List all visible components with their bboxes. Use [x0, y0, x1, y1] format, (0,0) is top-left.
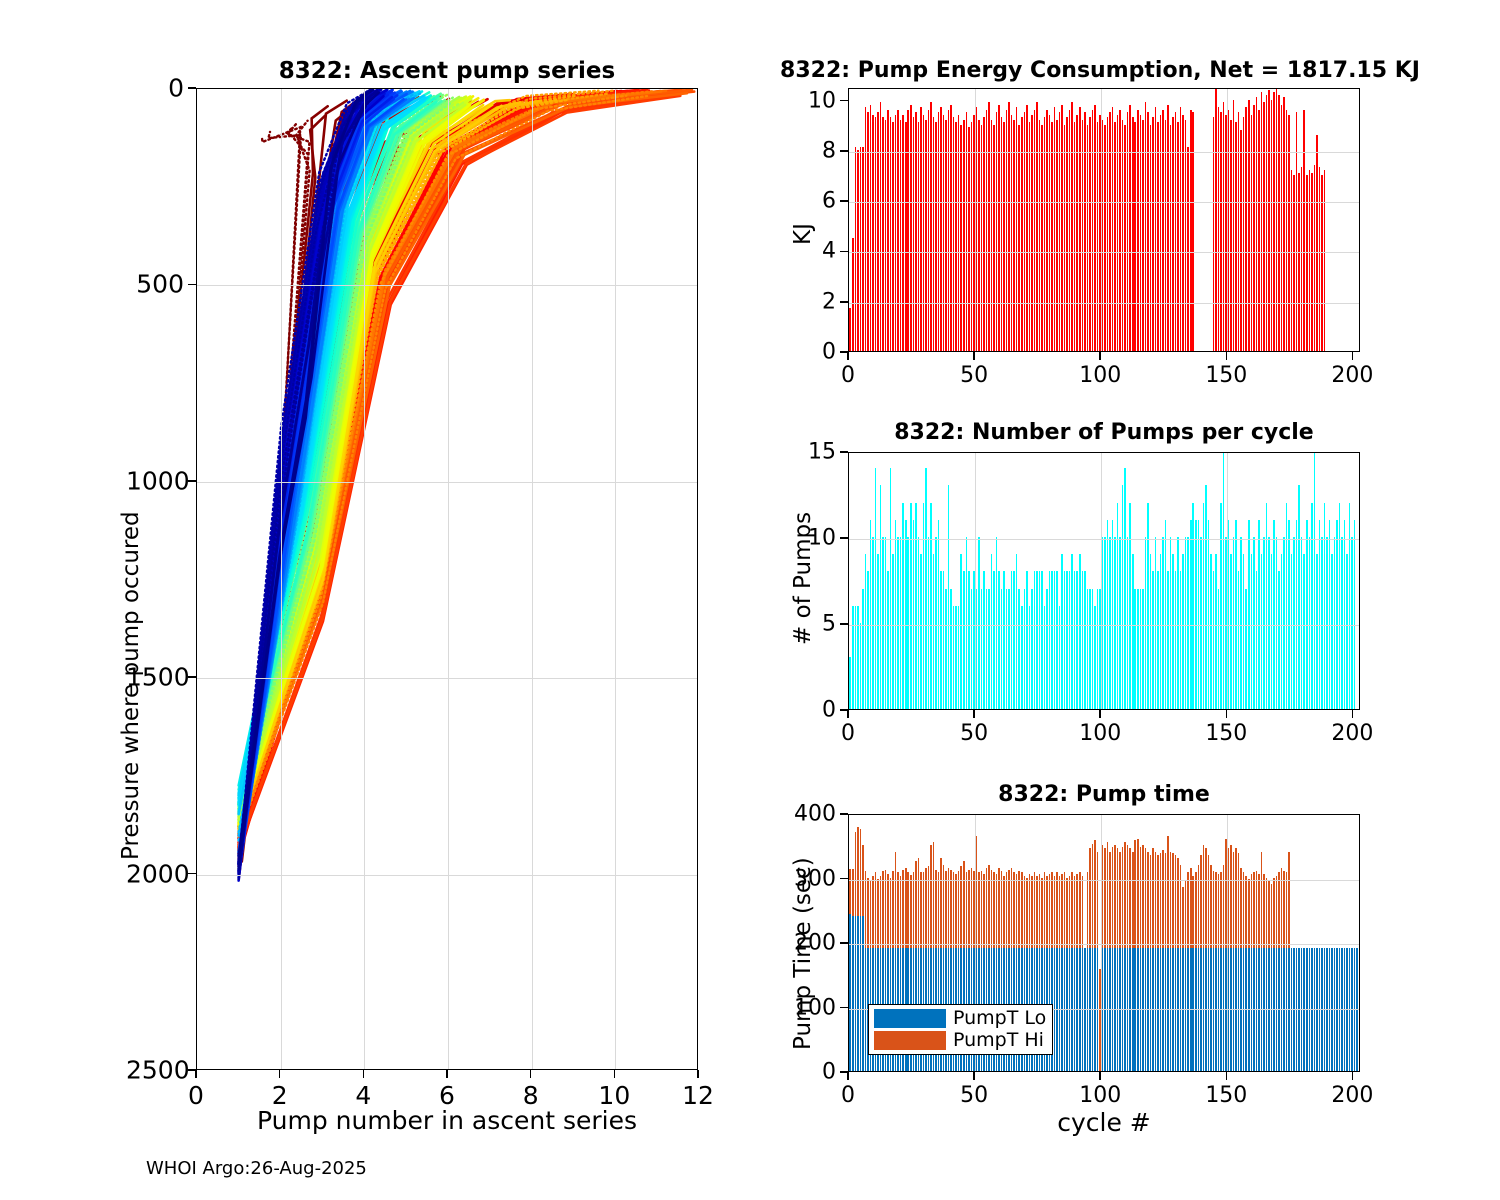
- bar-item: [923, 503, 925, 709]
- bar-pumpt-hi: [1256, 871, 1258, 948]
- bar-item: [993, 125, 995, 351]
- bar-item: [877, 554, 879, 709]
- bar-item: [1104, 537, 1106, 709]
- bar-item: [1248, 520, 1250, 709]
- bar-pumpt-lo: [852, 916, 854, 1071]
- bar-pumpt-lo: [1150, 948, 1152, 1071]
- bar-item: [1112, 107, 1114, 351]
- x-tickmark: [973, 352, 975, 360]
- bar-item: [1256, 97, 1258, 351]
- bar-pumpt-hi: [1261, 852, 1263, 949]
- bar-item: [1205, 485, 1207, 709]
- bar-pumpt-hi: [1036, 876, 1038, 948]
- y-tick-label: 0: [778, 1060, 836, 1085]
- bar-item: [907, 537, 909, 709]
- grid-line-horizontal: [849, 152, 1360, 153]
- x-tick-label: 50: [960, 721, 988, 746]
- bar-item: [1170, 537, 1172, 709]
- x-tick-label: 200: [1331, 721, 1373, 746]
- grid-line-horizontal: [849, 880, 1360, 881]
- bar-pumpt-lo: [1087, 948, 1089, 1071]
- bar-item: [1076, 115, 1078, 351]
- bar-item: [1137, 110, 1139, 351]
- bar-pumpt-hi: [1200, 855, 1202, 949]
- bar-pumpt-hi: [1248, 879, 1250, 949]
- bar-item: [1006, 110, 1008, 351]
- bar-item: [1006, 589, 1008, 709]
- bar-item: [1082, 571, 1084, 709]
- y-tick-label: 400: [778, 802, 836, 827]
- bar-pumpt-hi: [1162, 850, 1164, 948]
- bar-pumpt-hi: [1187, 872, 1189, 948]
- bar-pumpt-hi: [1026, 878, 1028, 949]
- bar-item: [1066, 571, 1068, 709]
- bar-pumpt-lo: [860, 916, 862, 1071]
- bar-item: [1024, 112, 1026, 351]
- bar-pumpt-lo: [1200, 948, 1202, 1071]
- bar-item: [897, 110, 899, 351]
- bar-item: [1124, 468, 1126, 709]
- bar-pumpt-hi: [981, 871, 983, 948]
- bar-item: [991, 554, 993, 709]
- y-tickmark: [188, 87, 196, 89]
- x-tick-label: 100: [1079, 1083, 1121, 1108]
- bar-item: [1097, 589, 1099, 709]
- bar-item: [930, 102, 932, 351]
- bar-item: [948, 485, 950, 709]
- grid-line-horizontal: [849, 625, 1360, 626]
- bar-item: [1182, 554, 1184, 709]
- pumps-yaxis-label: # of Pumps: [790, 512, 816, 645]
- bar-item: [1238, 112, 1240, 351]
- bar-pumpt-hi: [1268, 881, 1270, 949]
- bar-item: [1258, 110, 1260, 351]
- bar-item: [870, 520, 872, 709]
- bar-item: [1230, 120, 1232, 351]
- bar-item: [1150, 125, 1152, 351]
- bar-item: [1084, 112, 1086, 351]
- bar-pumpt-hi: [1185, 881, 1187, 949]
- bar-pumpt-hi: [907, 872, 909, 948]
- bar-item: [1155, 537, 1157, 709]
- bar-item: [1291, 170, 1293, 351]
- bar-item: [955, 122, 957, 351]
- bar-item: [1253, 537, 1255, 709]
- bar-item: [953, 606, 955, 709]
- bar-item: [865, 107, 867, 351]
- bar-item: [895, 115, 897, 351]
- bar-item: [1223, 102, 1225, 351]
- bar-pumpt-hi: [1112, 847, 1114, 949]
- bar-item: [943, 571, 945, 709]
- bar-item: [1069, 571, 1071, 709]
- bar-pumpt-lo: [1314, 948, 1316, 1071]
- bar-pumpt-lo: [1326, 948, 1328, 1071]
- bar-pumpt-lo: [1288, 948, 1290, 1071]
- bar-item: [1301, 167, 1303, 351]
- grid-line-vertical: [364, 89, 365, 1070]
- bar-item: [1162, 110, 1164, 351]
- bar-pumpt-lo: [1061, 948, 1063, 1071]
- bar-item: [1215, 88, 1217, 351]
- bar-pumpt-hi: [1140, 847, 1142, 949]
- bar-item: [940, 107, 942, 351]
- bar-pumpt-lo: [1185, 948, 1187, 1071]
- bar-item: [1064, 125, 1066, 351]
- figure-canvas: 8322: Ascent pump series 024681012050010…: [0, 0, 1500, 1200]
- x-tick-label: 0: [841, 1083, 855, 1108]
- bar-pumpt-lo: [1298, 948, 1300, 1071]
- bar-item: [1276, 537, 1278, 709]
- bar-pumpt-hi: [968, 870, 970, 949]
- bar-pumpt-hi: [1089, 848, 1091, 948]
- bar-pumpt-hi: [958, 871, 960, 948]
- y-tickmark: [840, 942, 848, 944]
- bar-pumpt-lo: [1132, 948, 1134, 1071]
- bar-item: [895, 520, 897, 709]
- bar-pumpt-lo: [1180, 948, 1182, 1071]
- bar-pumpt-lo: [1233, 948, 1235, 1071]
- legend-swatch-pumpt-lo: [874, 1009, 946, 1028]
- bar-item: [981, 589, 983, 709]
- grid-line-vertical: [615, 89, 616, 1070]
- bar-item: [1230, 554, 1232, 709]
- bar-pumpt-hi: [1233, 852, 1235, 949]
- bar-item: [1288, 520, 1290, 709]
- bar-item: [1273, 92, 1275, 351]
- bar-pumpt-hi: [1034, 872, 1036, 948]
- bar-pumpt-lo: [1261, 948, 1263, 1071]
- bar-item: [1170, 125, 1172, 351]
- bar-pumpt-hi: [1044, 872, 1046, 948]
- bar-pumpt-hi: [860, 829, 862, 916]
- bar-item: [1258, 520, 1260, 709]
- bar-pumpt-lo: [1097, 948, 1099, 1071]
- bar-pumpt-lo: [1251, 948, 1253, 1071]
- bar-item: [1251, 115, 1253, 351]
- bar-item: [1150, 554, 1152, 709]
- bar-item: [1276, 88, 1278, 351]
- bar-item: [1165, 120, 1167, 351]
- bar-item: [1097, 122, 1099, 351]
- bar-pumpt-hi: [855, 832, 857, 916]
- ascent-xaxis-label: Pump number in ascent series: [196, 1106, 698, 1135]
- bar-item: [1321, 537, 1323, 709]
- bar-item: [1198, 520, 1200, 709]
- x-tick-label: 0: [841, 363, 855, 388]
- pumptime-panel-title: 8322: Pump time: [848, 782, 1360, 807]
- bar-pumpt-hi: [978, 872, 980, 948]
- bar-item: [1311, 173, 1313, 352]
- bar-item: [1152, 571, 1154, 709]
- pumptime-legend[interactable]: PumpT Lo PumpT Hi: [868, 1004, 1053, 1055]
- bar-item: [1162, 537, 1164, 709]
- bar-pumpt-hi: [872, 876, 874, 948]
- bar-pumpt-hi: [1076, 874, 1078, 948]
- bar-item: [1165, 520, 1167, 709]
- bar-item: [938, 520, 940, 709]
- bar-item: [1132, 554, 1134, 709]
- bar-item: [867, 112, 869, 351]
- grid-line-horizontal: [197, 285, 698, 286]
- bar-item: [925, 468, 927, 709]
- bar-item: [1349, 503, 1351, 709]
- bar-item: [981, 125, 983, 351]
- bar-item: [1177, 122, 1179, 351]
- bar-pumpt-hi: [1041, 878, 1043, 949]
- bar-item: [1339, 503, 1341, 709]
- bar-pumpt-hi: [1114, 845, 1116, 948]
- bar-pumpt-lo: [1109, 948, 1111, 1071]
- bar-item: [1261, 92, 1263, 351]
- y-tickmark: [840, 813, 848, 815]
- bar-pumpt-hi: [1223, 865, 1225, 949]
- bar-item: [1008, 589, 1010, 709]
- bar-item: [1303, 110, 1305, 351]
- bar-item: [1026, 571, 1028, 709]
- bar-pumpt-hi: [1203, 845, 1205, 948]
- bar-item: [1218, 589, 1220, 709]
- bar-item: [1142, 120, 1144, 351]
- bar-pumpt-hi: [1266, 878, 1268, 949]
- pumptime-xaxis-label: cycle #: [848, 1108, 1360, 1137]
- bar-pumpt-lo: [1344, 948, 1346, 1071]
- y-tick-label: 2500: [126, 1056, 184, 1085]
- bar-pumpt-hi: [1218, 874, 1220, 948]
- bar-item: [1036, 102, 1038, 351]
- legend-item-pumpt-hi[interactable]: PumpT Hi: [874, 1031, 1046, 1050]
- bar-item: [1336, 520, 1338, 709]
- bar-pumpt-hi: [1049, 874, 1051, 948]
- bar-pumpt-lo: [1129, 948, 1131, 1071]
- bar-pumpt-lo: [1177, 948, 1179, 1071]
- bar-item: [1261, 554, 1263, 709]
- bar-pumpt-hi: [1147, 852, 1149, 949]
- bar-item: [1013, 120, 1015, 351]
- bar-pumpt-hi: [943, 865, 945, 949]
- bar-pumpt-lo: [865, 948, 867, 1071]
- bar-pumpt-hi: [918, 858, 920, 948]
- x-tickmark: [1226, 352, 1228, 360]
- bar-pumpt-hi: [966, 872, 968, 948]
- bar-pumpt-hi: [1167, 836, 1169, 949]
- bar-item: [998, 571, 1000, 709]
- bar-pumpt-hi: [955, 874, 957, 948]
- x-tick-label: 150: [1205, 363, 1247, 388]
- bar-pumpt-hi: [996, 874, 998, 948]
- bar-item: [1311, 503, 1313, 709]
- y-tickmark: [840, 301, 848, 303]
- y-tickmark: [188, 284, 196, 286]
- bar-item: [882, 537, 884, 709]
- legend-item-pumpt-lo[interactable]: PumpT Lo: [874, 1009, 1046, 1028]
- bar-pumpt-hi: [1230, 845, 1232, 948]
- bar-pumpt-lo: [1195, 948, 1197, 1071]
- bar-pumpt-lo: [1094, 948, 1096, 1071]
- bar-item: [1049, 571, 1051, 709]
- bar-pumpt-hi: [1061, 874, 1063, 948]
- bar-pumpt-lo: [1117, 948, 1119, 1071]
- bar-pumpt-hi: [1051, 872, 1053, 948]
- bar-pumpt-lo: [1356, 948, 1358, 1071]
- bar-item: [1187, 537, 1189, 709]
- bar-pumpt-hi: [1210, 865, 1212, 949]
- bar-pumpt-lo: [849, 914, 851, 1071]
- y-tick-label: 10: [778, 88, 836, 113]
- bar-item: [1087, 589, 1089, 709]
- bar-item: [1034, 110, 1036, 351]
- bar-item: [1001, 589, 1003, 709]
- bar-pumpt-lo: [1152, 948, 1154, 1071]
- bar-item: [920, 554, 922, 709]
- bar-item: [945, 589, 947, 709]
- bar-pumpt-hi: [849, 869, 851, 914]
- bar-item: [1192, 503, 1194, 709]
- bar-pumpt-lo: [1172, 948, 1174, 1071]
- bar-pumpt-lo: [1127, 948, 1129, 1071]
- x-tickmark: [1099, 352, 1101, 360]
- bar-item: [968, 571, 970, 709]
- bar-item: [1016, 107, 1018, 351]
- bar-pumpt-hi: [950, 870, 952, 949]
- bar-pumpt-hi: [1006, 872, 1008, 948]
- bar-item: [1309, 170, 1311, 351]
- bar-pumpt-lo: [1223, 948, 1225, 1071]
- bar-pumpt-lo: [1114, 948, 1116, 1071]
- bar-item: [1195, 520, 1197, 709]
- bar-pumpt-hi: [1013, 872, 1015, 948]
- bar-pumpt-lo: [1276, 948, 1278, 1071]
- bar-pumpt-hi: [1064, 872, 1066, 948]
- bar-item: [1160, 554, 1162, 709]
- bar-item: [988, 589, 990, 709]
- bar-item: [925, 120, 927, 351]
- pumptime-yaxis-label: Pump Time (sec): [790, 857, 816, 1050]
- bar-item: [938, 112, 940, 351]
- bar-pumpt-hi: [1195, 872, 1197, 948]
- bar-pumpt-hi: [1253, 872, 1255, 948]
- bar-pumpt-lo: [1208, 948, 1210, 1071]
- bar-pumpt-hi: [892, 871, 894, 948]
- bar-item: [1334, 537, 1336, 709]
- bar-pumpt-lo: [1069, 948, 1071, 1071]
- bar-item: [958, 606, 960, 709]
- x-tick-label: 50: [960, 1083, 988, 1108]
- energy-bar-layer: [849, 89, 1359, 351]
- bar-item: [1185, 120, 1187, 351]
- bar-pumpt-hi: [983, 874, 985, 948]
- bar-pumpt-lo: [1074, 948, 1076, 1071]
- grid-line-horizontal: [849, 944, 1360, 945]
- bar-pumpt-hi: [960, 866, 962, 949]
- bar-item: [1018, 125, 1020, 351]
- bar-item: [1026, 105, 1028, 351]
- bar-item: [1094, 606, 1096, 709]
- bar-item: [1233, 537, 1235, 709]
- bar-item: [1013, 571, 1015, 709]
- bar-item: [1286, 110, 1288, 351]
- bar-item: [1273, 520, 1275, 709]
- bar-item: [1137, 589, 1139, 709]
- bar-item: [950, 105, 952, 351]
- bar-item: [1263, 102, 1265, 351]
- bar-pumpt-lo: [1205, 948, 1207, 1071]
- bar-item: [1190, 520, 1192, 709]
- bar-item: [915, 112, 917, 351]
- bar-pumpt-hi: [1177, 858, 1179, 948]
- bar-item: [1061, 554, 1063, 709]
- x-tickmark: [1352, 710, 1354, 718]
- bar-item: [920, 107, 922, 351]
- bar-pumpt-hi: [867, 878, 869, 949]
- bar-item: [1286, 503, 1288, 709]
- bar-pumpt-lo: [1351, 948, 1353, 1071]
- bar-item: [907, 110, 909, 351]
- y-tick-label: 2000: [126, 859, 184, 888]
- bar-item: [1036, 571, 1038, 709]
- energy-panel-title: 8322: Pump Energy Consumption, Net = 181…: [736, 58, 1464, 83]
- bar-item: [943, 115, 945, 351]
- y-tickmark: [840, 150, 848, 152]
- bar-item: [1233, 100, 1235, 351]
- bar-item: [1351, 537, 1353, 709]
- bar-pumpt-lo: [1339, 948, 1341, 1071]
- bar-pumpt-lo: [1329, 948, 1331, 1071]
- bar-item: [928, 537, 930, 709]
- bar-item: [892, 122, 894, 351]
- bar-pumpt-hi: [953, 872, 955, 948]
- bar-item: [1243, 554, 1245, 709]
- bar-item: [1240, 130, 1242, 351]
- bar-item: [1074, 122, 1076, 351]
- legend-swatch-pumpt-hi: [874, 1031, 946, 1050]
- bar-pumpt-hi: [1208, 855, 1210, 949]
- bar-item: [991, 120, 993, 351]
- bar-pumpt-hi: [887, 874, 889, 948]
- bar-item: [1107, 520, 1109, 709]
- bar-item: [1266, 95, 1268, 351]
- bar-pumpt-lo: [1187, 948, 1189, 1071]
- x-tickmark: [279, 1070, 281, 1078]
- bar-item: [915, 503, 917, 709]
- bar-pumpt-lo: [1256, 948, 1258, 1071]
- bar-item: [1119, 537, 1121, 709]
- bar-item: [1298, 173, 1300, 352]
- bar-pumpt-lo: [1142, 948, 1144, 1071]
- bar-item: [955, 606, 957, 709]
- x-tickmark: [973, 710, 975, 718]
- bar-item: [963, 571, 965, 709]
- bar-pumpt-lo: [1162, 948, 1164, 1071]
- y-tickmark: [840, 100, 848, 102]
- bar-pumpt-lo: [1122, 948, 1124, 1071]
- y-tick-label: 0: [126, 74, 184, 103]
- bar-item: [996, 537, 998, 709]
- bar-item: [1220, 112, 1222, 351]
- bar-pumpt-lo: [1291, 948, 1293, 1071]
- x-tickmark: [614, 1070, 616, 1078]
- bar-pumpt-hi: [1276, 876, 1278, 948]
- bar-pumpt-hi: [1129, 848, 1131, 948]
- bar-item: [983, 571, 985, 709]
- bar-item: [1180, 107, 1182, 351]
- bar-item: [998, 105, 1000, 351]
- y-tick-label: 8: [778, 138, 836, 163]
- x-tick-label: 150: [1205, 721, 1247, 746]
- bar-item: [1046, 110, 1048, 351]
- bar-pumpt-lo: [1336, 948, 1338, 1071]
- bar-pumpt-lo: [1082, 948, 1084, 1071]
